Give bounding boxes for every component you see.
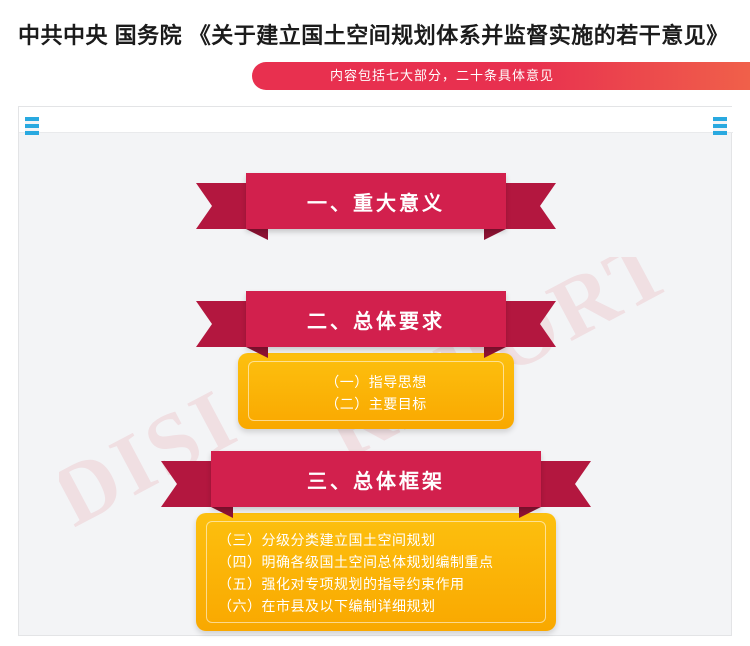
section-3: 三、总体框架 （三）分级分类建立国土空间规划 （四）明确各级国土空间总体规划编制… bbox=[19, 451, 733, 631]
page-title-main: 《关于建立国土空间规划体系并监督实施的若干意见》 bbox=[189, 23, 729, 48]
section-2-items: （一）指导思想 （二）主要目标 bbox=[238, 353, 514, 429]
list-item: （三）分级分类建立国土空间规划 bbox=[218, 529, 534, 551]
list-item: （六）在市县及以下编制详细规划 bbox=[218, 595, 534, 617]
ribbon-center: 一、重大意义 bbox=[246, 173, 506, 229]
section-2-banner: 二、总体要求 bbox=[196, 291, 556, 357]
list-item: （二）主要目标 bbox=[260, 393, 492, 415]
page-title: 中共中央 国务院 《关于建立国土空间规划体系并监督实施的若干意见》 bbox=[18, 18, 729, 50]
content-panel: DISI REPORT 一、重大意义 bbox=[18, 106, 732, 636]
list-item: （一）指导思想 bbox=[260, 371, 492, 393]
ribbon-fold-right bbox=[484, 229, 506, 240]
section-1: 一、重大意义 bbox=[19, 173, 733, 239]
section-1-banner: 一、重大意义 bbox=[196, 173, 556, 239]
section-1-title: 一、重大意义 bbox=[307, 187, 445, 216]
section-3-items: （三）分级分类建立国土空间规划 （四）明确各级国土空间总体规划编制重点 （五）强… bbox=[196, 513, 556, 631]
list-item: （五）强化对专项规划的指导约束作用 bbox=[218, 573, 534, 595]
diagram-stage: 一、重大意义 二、总体要求 （一）指导思想 （二） bbox=[19, 133, 733, 637]
subtitle-text: 内容包括七大部分，二十条具体意见 bbox=[252, 62, 750, 90]
panel-topbar bbox=[19, 107, 733, 133]
header: 中共中央 国务院 《关于建立国土空间规划体系并监督实施的若干意见》 内容包括七大… bbox=[0, 0, 750, 100]
subtitle-bar: 内容包括七大部分，二十条具体意见 bbox=[252, 62, 750, 90]
ribbon-fold-left bbox=[246, 229, 268, 240]
ribbon-center: 二、总体要求 bbox=[246, 291, 506, 347]
section-2-title: 二、总体要求 bbox=[307, 305, 445, 334]
section-3-title: 三、总体框架 bbox=[307, 465, 445, 494]
section-2: 二、总体要求 （一）指导思想 （二）主要目标 bbox=[19, 291, 733, 429]
page-title-prefix: 中共中央 国务院 bbox=[18, 23, 182, 48]
list-item: （四）明确各级国土空间总体规划编制重点 bbox=[218, 551, 534, 573]
ribbon-center: 三、总体框架 bbox=[211, 451, 541, 507]
section-3-banner: 三、总体框架 bbox=[161, 451, 591, 517]
